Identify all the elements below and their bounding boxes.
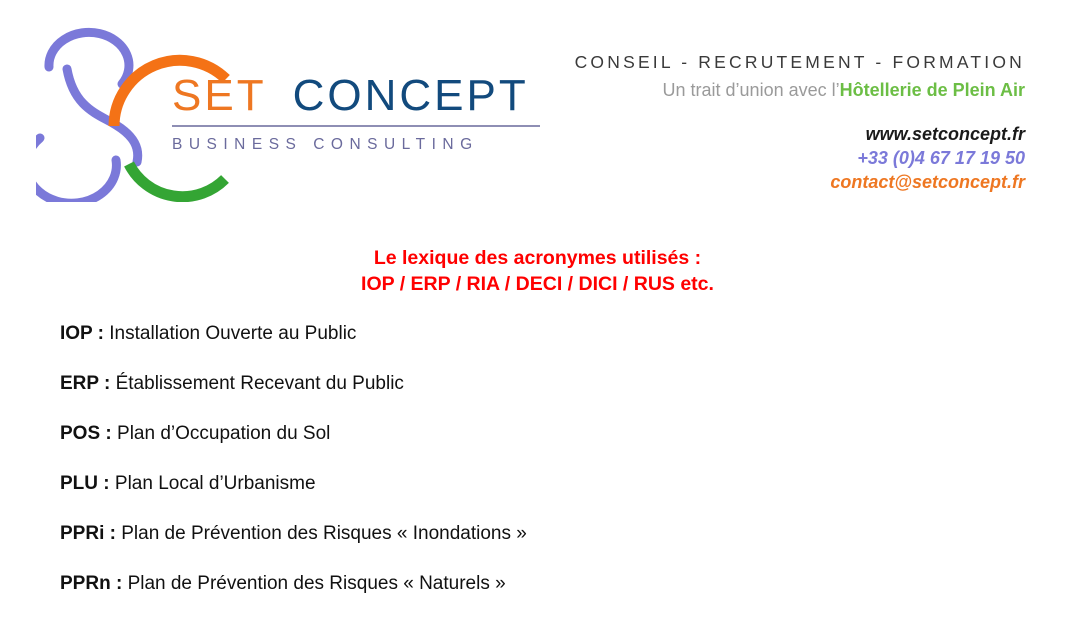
- glossary-definition: Installation Ouverte au Public: [109, 323, 356, 344]
- phone-number[interactable]: +33 (0)4 67 17 19 50: [505, 147, 1025, 171]
- wordmark-divider: [172, 125, 540, 127]
- header-contact-block: CONSEIL - RECRUTEMENT - FORMATION Un tra…: [505, 52, 1025, 195]
- glossary-row: PPRn : Plan de Prévention des Risques « …: [60, 574, 1075, 593]
- glossary-term: IOP :: [60, 323, 109, 344]
- glossary-row: PLU : Plan Local d’Urbanisme: [60, 474, 1075, 493]
- glossary-definition: Plan Local d’Urbanisme: [115, 473, 316, 494]
- website-link[interactable]: www.setconcept.fr: [505, 123, 1025, 147]
- logo-s-upper-arc: [49, 32, 129, 84]
- email-link[interactable]: contact@setconcept.fr: [505, 171, 1025, 195]
- wordmark-set: SET: [172, 71, 267, 120]
- services-tagline: CONSEIL - RECRUTEMENT - FORMATION: [505, 52, 1025, 73]
- glossary-row: POS : Plan d’Occupation du Sol: [60, 424, 1075, 443]
- document-title-line2: IOP / ERP / RIA / DECI / DICI / RUS etc.: [0, 272, 1075, 298]
- logo-c-green-arc: [129, 164, 225, 197]
- glossary-definition: Établissement Recevant du Public: [116, 373, 404, 394]
- glossary-term: ERP :: [60, 373, 116, 394]
- glossary-row: IOP : Installation Ouverte au Public: [60, 324, 1075, 343]
- logo-s-lower-arc: [36, 138, 116, 202]
- glossary-definition: Plan de Prévention des Risques « Inondat…: [121, 523, 527, 544]
- sector-tagline: Un trait d’union avec l’Hôtellerie de Pl…: [505, 80, 1025, 101]
- glossary-definition: Plan d’Occupation du Sol: [117, 423, 330, 444]
- glossary-row: PPRi : Plan de Prévention des Risques « …: [60, 524, 1075, 543]
- company-logo[interactable]: SETCONCEPT BUSINESS CONSULTING: [36, 22, 536, 202]
- logo-wordmark: SETCONCEPT BUSINESS CONSULTING: [172, 74, 562, 154]
- document-title: Le lexique des acronymes utilisés : IOP …: [0, 246, 1075, 298]
- glossary-row: ERP : Établissement Recevant du Public: [60, 374, 1075, 393]
- document-title-line1: Le lexique des acronymes utilisés :: [0, 246, 1075, 272]
- wordmark-concept: CONCEPT: [293, 71, 529, 120]
- page-header: SETCONCEPT BUSINESS CONSULTING CONSEIL -…: [0, 0, 1075, 210]
- glossary-term: PPRn :: [60, 573, 128, 594]
- glossary-definition: Plan de Prévention des Risques « Naturel…: [128, 573, 506, 594]
- glossary-term: PLU :: [60, 473, 115, 494]
- glossary-term: POS :: [60, 423, 117, 444]
- wordmark-subtitle: BUSINESS CONSULTING: [172, 136, 562, 154]
- contact-details: www.setconcept.fr +33 (0)4 67 17 19 50 c…: [505, 123, 1025, 195]
- sector-tagline-highlight: Hôtellerie de Plein Air: [840, 80, 1025, 100]
- wordmark-main: SETCONCEPT: [172, 74, 562, 118]
- glossary-term: PPRi :: [60, 523, 121, 544]
- sector-tagline-prefix: Un trait d’union avec l’: [663, 80, 840, 100]
- glossary-list: IOP : Installation Ouverte au PublicERP …: [0, 324, 1075, 593]
